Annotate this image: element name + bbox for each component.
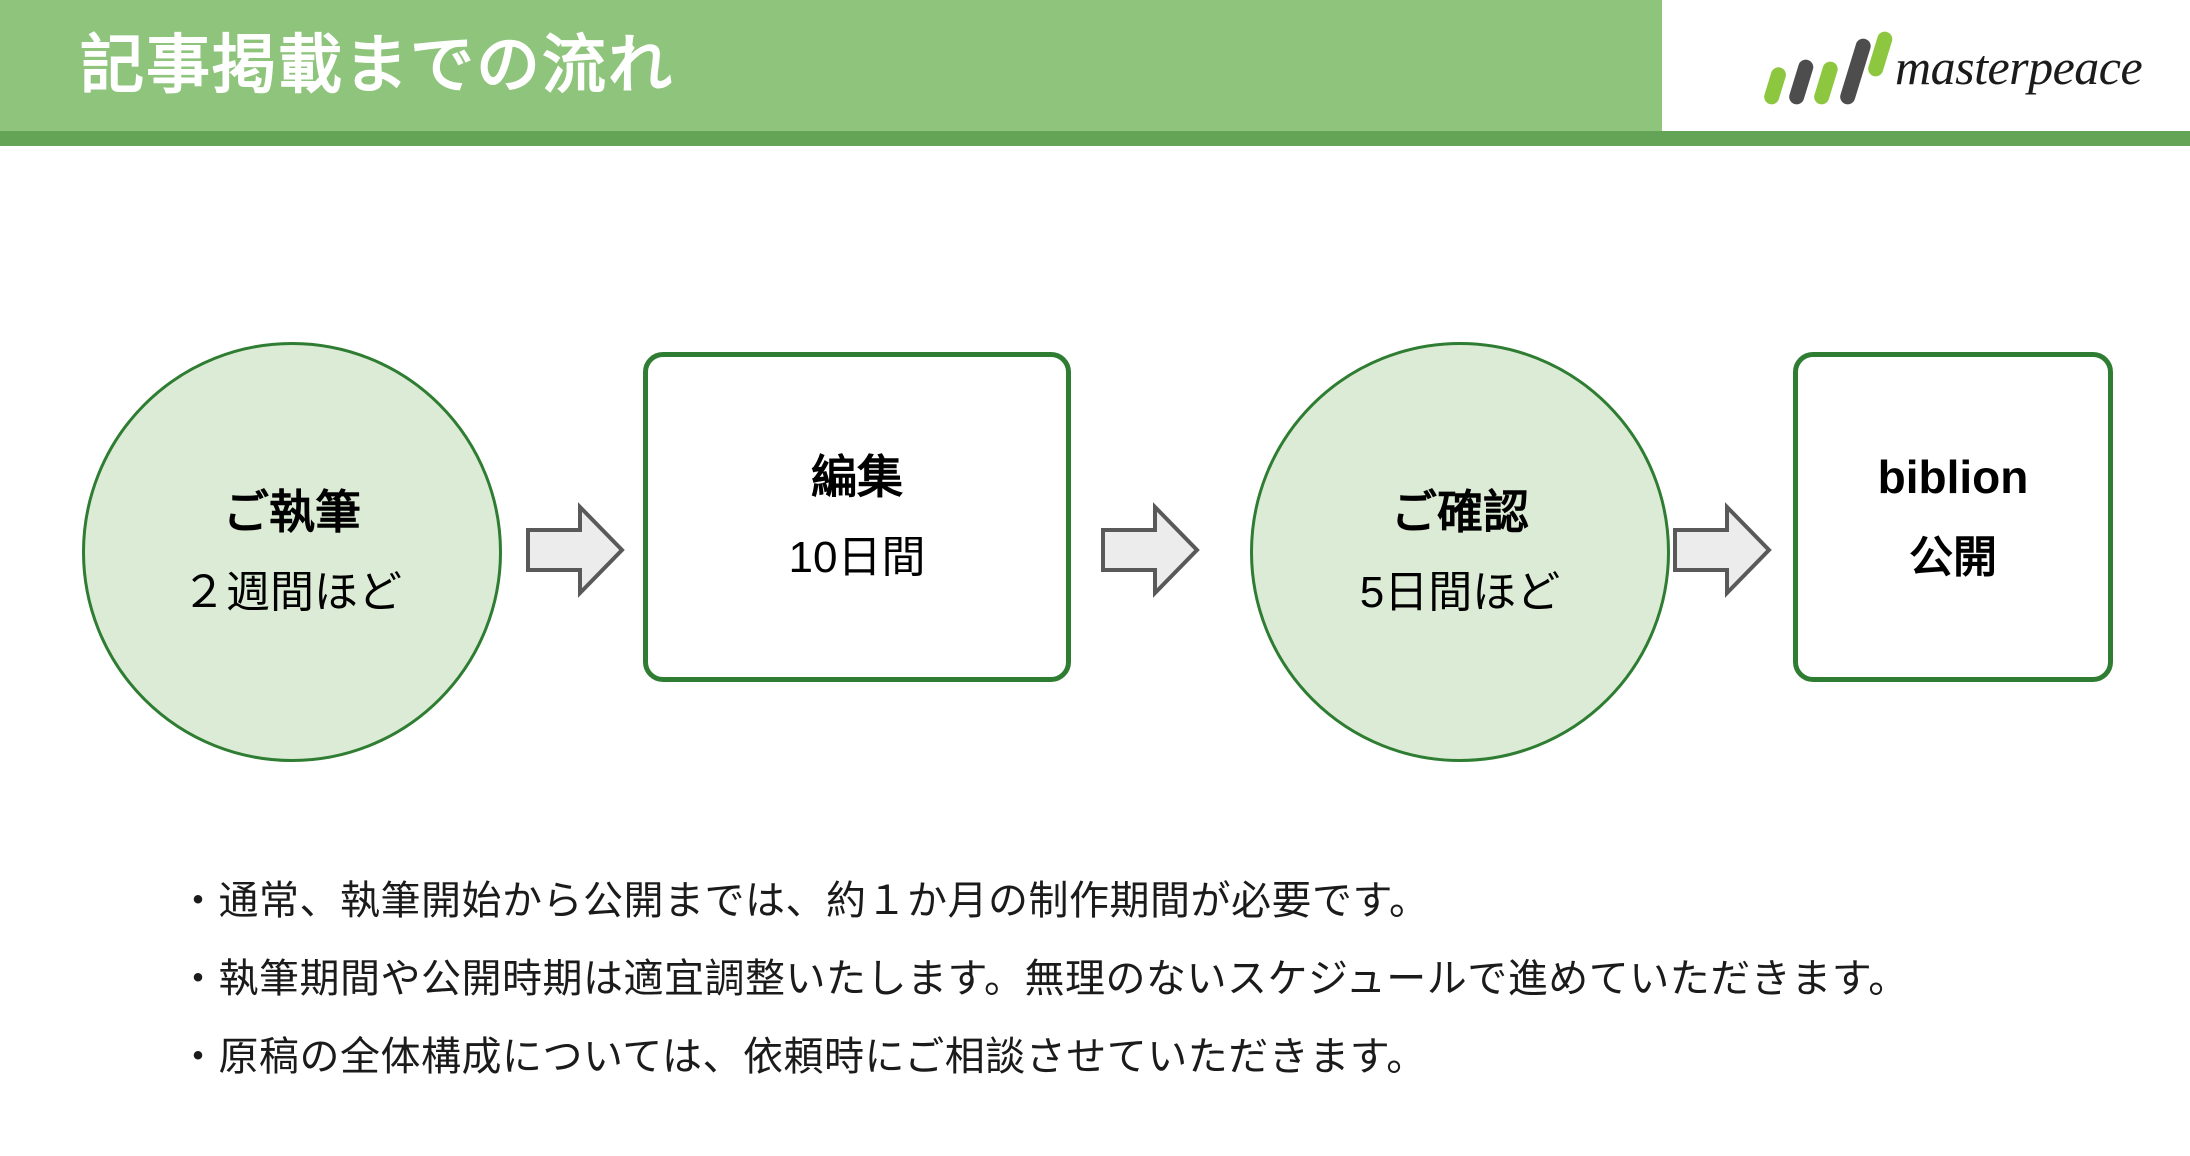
- notes-list: ・通常、執筆開始から公開までは、約１か月の制作期間が必要です。 ・執筆期間や公開…: [178, 862, 2138, 1096]
- flow-step-confirmation[interactable]: ご確認 5日間ほど: [1250, 342, 1670, 762]
- arrow-right-icon: [1100, 502, 1200, 598]
- flow-step-editing[interactable]: 編集 10日間: [643, 352, 1071, 682]
- flow-step-writing[interactable]: ご執筆 ２週間ほど: [82, 342, 502, 762]
- process-flow-diagram: ご執筆 ２週間ほど 編集 10日間 ご確認 5日間ほど biblion 公開: [0, 330, 2190, 750]
- header-underline-bar: [0, 131, 2190, 146]
- slide-header: 記事掲載までの流れ masterpeace: [0, 0, 2190, 146]
- masterpeace-logo: masterpeace: [1760, 20, 2160, 110]
- flow-step-publish[interactable]: biblion 公開: [1793, 352, 2113, 682]
- flow-step-title: 編集: [811, 452, 903, 503]
- logo-wordmark: masterpeace: [1895, 38, 2142, 96]
- note-item: ・原稿の全体構成については、依頼時にご相談させていただきます。: [178, 1018, 2138, 1096]
- flow-step-title: ご執筆: [223, 487, 361, 538]
- arrow-right-icon: [525, 502, 625, 598]
- note-item: ・執筆期間や公開時期は適宜調整いたします。無理のないスケジュールで進めていただき…: [178, 940, 2138, 1018]
- flow-step-title: biblion: [1878, 452, 2029, 503]
- flow-step-duration: 公開: [1909, 534, 1997, 582]
- arrow-right-icon: [1672, 502, 1772, 598]
- flow-step-duration: 5日間ほど: [1360, 569, 1560, 617]
- flow-step-duration: ２週間ほど: [182, 569, 402, 617]
- page-title: 記事掲載までの流れ: [80, 18, 674, 112]
- flow-step-duration: 10日間: [789, 534, 926, 582]
- logo-bars-icon: [1760, 20, 1890, 104]
- flow-step-title: ご確認: [1391, 487, 1529, 538]
- note-item: ・通常、執筆開始から公開までは、約１か月の制作期間が必要です。: [178, 862, 2138, 940]
